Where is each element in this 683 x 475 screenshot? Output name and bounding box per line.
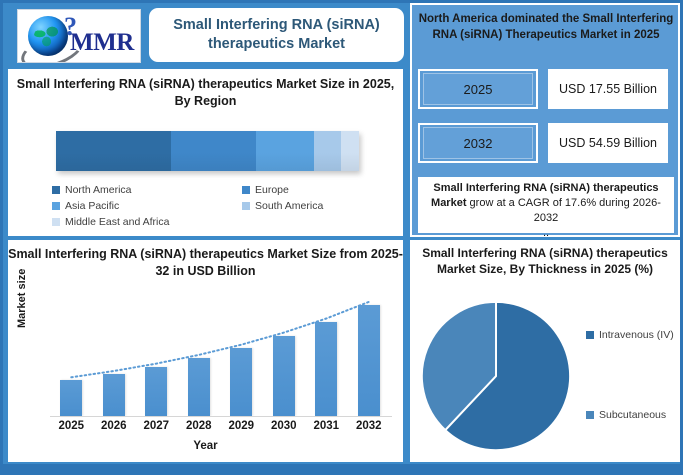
header-band: ? MMR Small Interfering RNA (siRNA) ther… xyxy=(3,3,408,67)
legend-item-3: South America xyxy=(242,199,392,213)
value-row-2032: 2032 USD 54.59 Billion xyxy=(418,123,668,163)
xtick-2030: 2030 xyxy=(263,420,306,432)
growth-chart-xlabel: Year xyxy=(8,440,403,452)
value-row-2025: 2025 USD 17.55 Billion xyxy=(418,69,668,109)
growth-bar-2032 xyxy=(358,305,380,416)
growth-chart-plot xyxy=(50,296,390,416)
legend-label: Subcutaneous xyxy=(599,409,666,421)
legend-item-0: North America xyxy=(52,183,242,197)
legend-swatch-icon xyxy=(52,186,60,194)
legend-item-1: Europe xyxy=(242,183,392,197)
pie-card: Small Interfering RNA (siRNA) therapeuti… xyxy=(410,240,680,462)
growth-bar-2026 xyxy=(103,374,125,416)
growth-chart-title: Small Interfering RNA (siRNA) therapeuti… xyxy=(8,246,403,280)
growth-chart-axis xyxy=(50,416,392,417)
legend-label: South America xyxy=(255,200,323,212)
growth-bar-2027 xyxy=(145,367,167,416)
cagr-note: Small Interfering RNA (siRNA) therapeuti… xyxy=(418,177,674,233)
infographic-root: ? MMR Small Interfering RNA (siRNA) ther… xyxy=(0,0,683,475)
region-segment-1 xyxy=(171,131,256,171)
xtick-2025: 2025 xyxy=(50,420,93,432)
region-card-title: Small Interfering RNA (siRNA) therapeuti… xyxy=(8,76,403,110)
pie-legend-item-1: Subcutaneous xyxy=(586,408,680,422)
legend-row: Middle East and Africa xyxy=(52,215,392,231)
legend-spacer xyxy=(586,342,680,408)
region-segment-4 xyxy=(341,131,359,171)
legend-swatch-icon xyxy=(52,202,60,210)
cagr-dots: .. xyxy=(418,226,674,241)
legend-swatch-icon xyxy=(586,331,594,339)
region-segment-2 xyxy=(256,131,314,171)
bottom-accent-bar xyxy=(3,464,680,472)
growth-bar-2030 xyxy=(273,336,295,416)
value-box-2025: USD 17.55 Billion xyxy=(548,69,668,109)
legend-label: Asia Pacific xyxy=(65,200,119,212)
year-box-2032: 2032 xyxy=(418,123,538,163)
pie-legend-item-0: Intravenous (IV) xyxy=(586,328,680,342)
xtick-2029: 2029 xyxy=(220,420,263,432)
growth-bar-2025 xyxy=(60,380,82,416)
region-highlight-heading: North America dominated the Small Interf… xyxy=(418,11,674,43)
legend-label: Europe xyxy=(255,184,289,196)
xtick-2028: 2028 xyxy=(178,420,221,432)
legend-row: Asia PacificSouth America xyxy=(52,199,392,215)
legend-item-4: Middle East and Africa xyxy=(52,215,242,229)
legend-swatch-icon xyxy=(586,411,594,419)
page-title-text: Small Interfering RNA (siRNA) therapeuti… xyxy=(149,16,404,54)
legend-swatch-icon xyxy=(52,218,60,226)
cagr-rest: grow at a CAGR of 17.6% during 2026-2032 xyxy=(467,197,661,224)
page-title: Small Interfering RNA (siRNA) therapeuti… xyxy=(149,8,404,62)
region-segment-0 xyxy=(56,131,171,171)
year-label-2032: 2032 xyxy=(423,127,533,159)
mmr-logo: ? MMR xyxy=(17,9,141,63)
growth-chart-xlabels: 20252026202720282029203020312032 xyxy=(50,420,390,432)
year-label-2025: 2025 xyxy=(423,73,533,105)
legend-label: Intravenous (IV) xyxy=(599,329,674,341)
year-box-2025: 2025 xyxy=(418,69,538,109)
region-legend: North AmericaEuropeAsia PacificSouth Ame… xyxy=(52,183,392,231)
xtick-2031: 2031 xyxy=(305,420,348,432)
legend-label: North America xyxy=(65,184,132,196)
region-stacked-bar xyxy=(56,131,359,171)
growth-chart-ylabel: Market size xyxy=(16,269,28,328)
region-highlight-panel: North America dominated the Small Interf… xyxy=(410,3,680,237)
growth-bar-2029 xyxy=(230,348,252,416)
xtick-2032: 2032 xyxy=(348,420,391,432)
thickness-pie-chart xyxy=(418,300,574,456)
legend-swatch-icon xyxy=(242,202,250,210)
xtick-2026: 2026 xyxy=(93,420,136,432)
legend-swatch-icon xyxy=(242,186,250,194)
legend-row: North AmericaEurope xyxy=(52,183,392,199)
region-card: Small Interfering RNA (siRNA) therapeuti… xyxy=(8,69,403,236)
legend-item-2: Asia Pacific xyxy=(52,199,242,213)
value-box-2032: USD 54.59 Billion xyxy=(548,123,668,163)
xtick-2027: 2027 xyxy=(135,420,178,432)
logo-wordmark: MMR xyxy=(70,30,134,55)
pie-legend: Intravenous (IV)Subcutaneous xyxy=(586,328,680,422)
region-segment-3 xyxy=(314,131,341,171)
growth-bar-2028 xyxy=(188,358,210,416)
growth-bar-2031 xyxy=(315,322,337,417)
legend-label: Middle East and Africa xyxy=(65,216,169,228)
cagr-text: Small Interfering RNA (siRNA) therapeuti… xyxy=(418,181,674,226)
pie-card-title: Small Interfering RNA (siRNA) therapeuti… xyxy=(410,245,680,277)
growth-chart-card: Small Interfering RNA (siRNA) therapeuti… xyxy=(8,240,403,462)
